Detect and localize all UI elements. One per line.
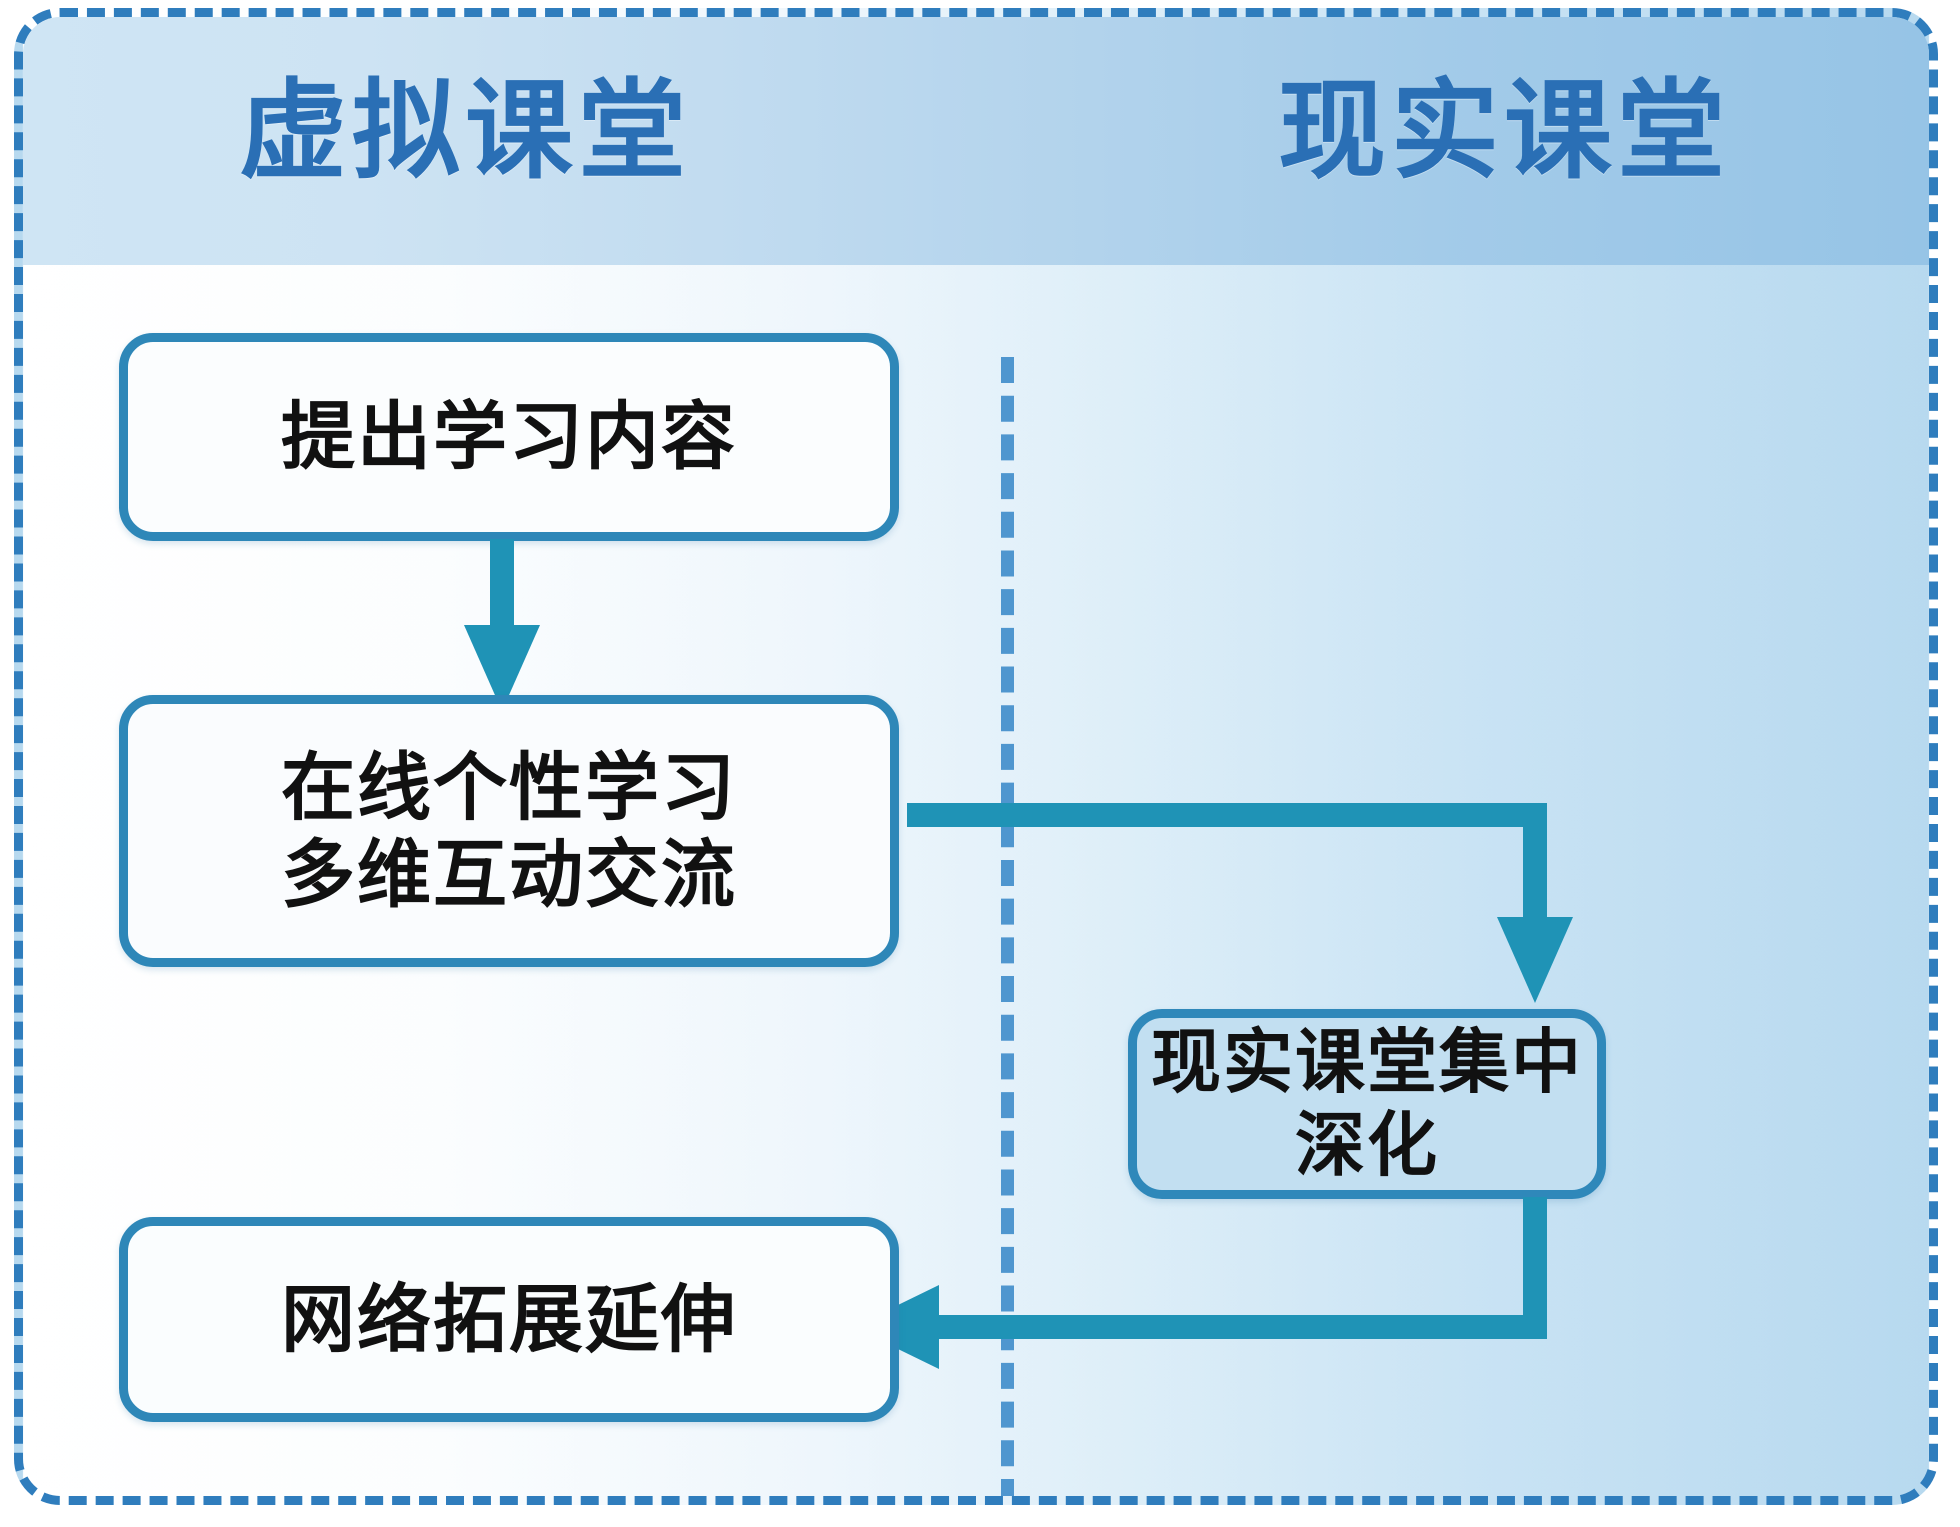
node-propose-learning-content-label: 提出学习内容 bbox=[281, 393, 737, 480]
diagram-canvas: 虚拟课堂 现实课堂 提出学习内容 在线个性学习 多维互动交流 现实课堂集中深化 … bbox=[0, 0, 1960, 1527]
edge-deepen-to-extend-horizontal bbox=[939, 1315, 1547, 1339]
edge-propose-to-online-stem bbox=[490, 539, 514, 635]
diagram-outer-frame: 虚拟课堂 现实课堂 提出学习内容 在线个性学习 多维互动交流 现实课堂集中深化 … bbox=[14, 8, 1938, 1505]
node-online-personalized-learning[interactable]: 在线个性学习 多维互动交流 bbox=[119, 695, 899, 967]
node-propose-learning-content[interactable]: 提出学习内容 bbox=[119, 333, 899, 541]
node-online-personalized-learning-label: 在线个性学习 多维互动交流 bbox=[281, 744, 737, 919]
edge-online-to-deepen-vertical bbox=[1523, 803, 1547, 923]
node-real-classroom-intensive-deepening[interactable]: 现实课堂集中深化 bbox=[1128, 1009, 1606, 1199]
column-header-virtual-classroom: 虚拟课堂 bbox=[239, 69, 691, 193]
node-network-expansion-extension[interactable]: 网络拓展延伸 bbox=[119, 1217, 899, 1422]
node-real-classroom-intensive-deepening-label: 现实课堂集中深化 bbox=[1137, 1021, 1597, 1186]
column-header-real-classroom: 现实课堂 bbox=[1278, 69, 1730, 193]
edge-online-to-deepen-arrowhead-icon bbox=[1497, 917, 1573, 1003]
column-header-band: 虚拟课堂 现实课堂 bbox=[23, 17, 1929, 265]
edge-online-to-deepen-horizontal bbox=[907, 803, 1547, 827]
node-network-expansion-extension-label: 网络拓展延伸 bbox=[281, 1276, 737, 1363]
